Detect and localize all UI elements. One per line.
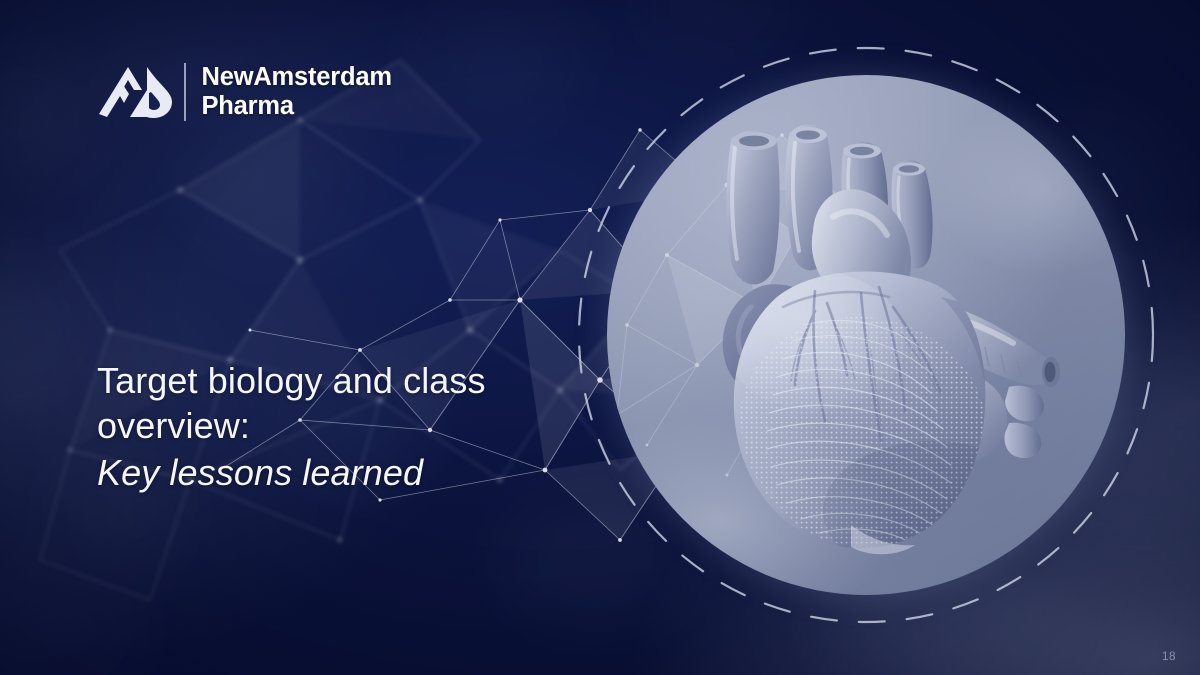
- slide-title-line-1: Target biology and class: [97, 358, 567, 403]
- presentation-slide: NewAmsterdam Pharma: [0, 0, 1200, 675]
- newamsterdam-na-monogram-icon: [98, 64, 174, 120]
- slide-title-line-2: overview:: [97, 403, 567, 448]
- logo-wordmark-line2: Pharma: [202, 92, 392, 121]
- page-number: 18: [1162, 649, 1176, 663]
- logo-divider: [184, 63, 186, 121]
- slide-title-block: Target biology and class overview: Key l…: [97, 358, 567, 495]
- hero-disc: [607, 75, 1125, 595]
- logo-wordmark-line1: NewAmsterdam: [202, 63, 392, 92]
- logo-wordmark: NewAmsterdam Pharma: [202, 63, 392, 120]
- slide-subtitle: Key lessons learned: [97, 450, 567, 495]
- heart-anatomy-illustration: [665, 111, 1075, 561]
- company-logo: NewAmsterdam Pharma: [98, 56, 392, 128]
